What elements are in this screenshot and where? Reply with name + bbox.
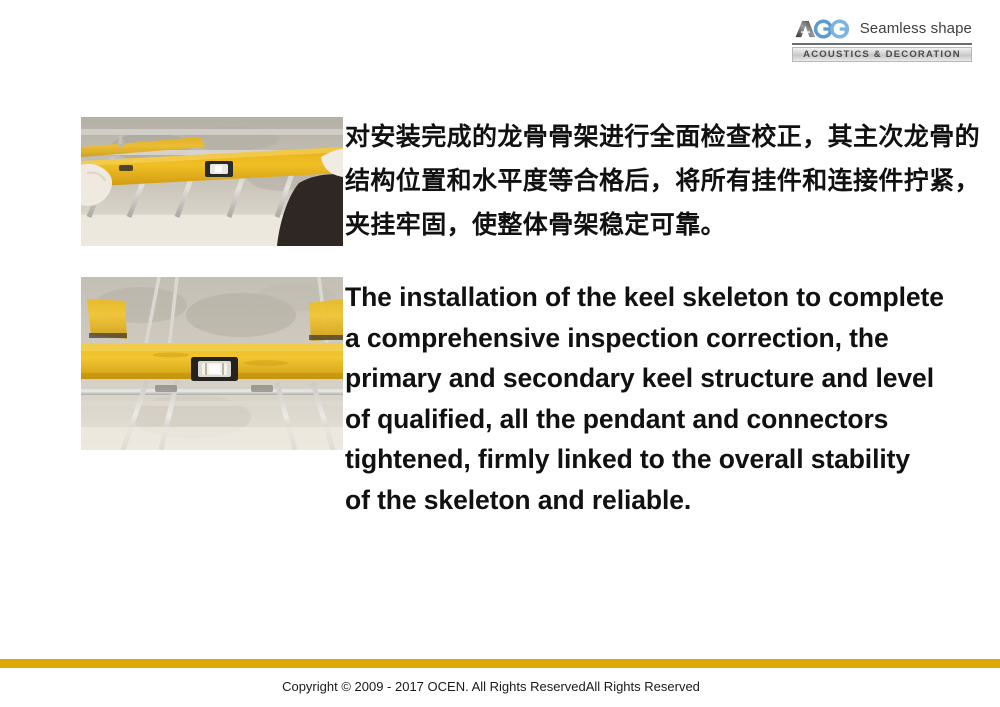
logo-divider	[792, 43, 972, 45]
agg-logo-icon	[794, 17, 853, 41]
brand-logo: Seamless shape Acoustics & Decoration	[792, 16, 972, 62]
english-description-paragraph: The installation of the keel skeleton to…	[345, 277, 1000, 520]
english-line: of the skeleton and reliable.	[345, 480, 1000, 521]
chinese-description-paragraph: 对安装完成的龙骨骨架进行全面检查校正，其主次龙骨的结构位置和水平度等合格后，将所…	[345, 115, 995, 247]
english-line: The installation of the keel skeleton to…	[345, 277, 1000, 318]
english-line: of qualified, all the pendant and connec…	[345, 399, 1000, 440]
photo-bottom-graphic	[81, 277, 343, 450]
photo-top-graphic	[81, 117, 343, 246]
logo-subbar: Acoustics & Decoration	[792, 47, 972, 62]
footer-accent-bar	[0, 659, 1000, 668]
logo-row: Seamless shape	[792, 16, 972, 42]
keel-level-closeup-photo	[81, 277, 343, 450]
english-line: tightened, firmly linked to the overall …	[345, 439, 1000, 480]
english-line: primary and secondary keel structure and…	[345, 358, 1000, 399]
keel-level-check-photo	[81, 117, 343, 246]
logo-subbar-label: Acoustics & Decoration	[803, 49, 961, 60]
logo-tagline: Seamless shape	[860, 17, 972, 41]
copyright-notice: Copyright © 2009 - 2017 OCEN. All Rights…	[0, 679, 1000, 694]
english-line: a comprehensive inspection correction, t…	[345, 318, 1000, 359]
